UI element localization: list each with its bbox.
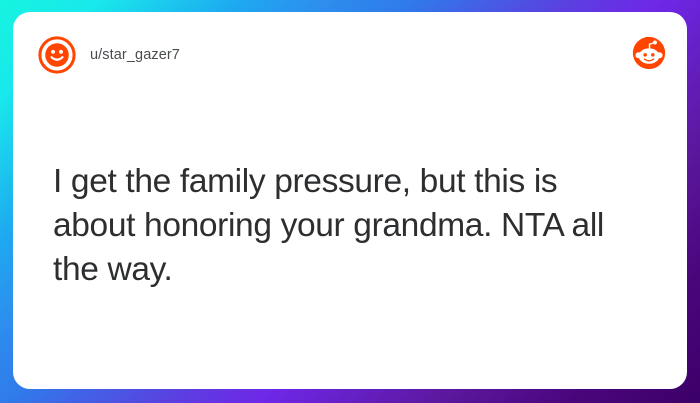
smiley-face-avatar-icon[interactable] xyxy=(38,36,76,74)
reddit-comment-screenshot: u/star_gazer7 xyxy=(0,0,700,403)
post-text-line: I get the family pressure, but this is xyxy=(53,160,655,204)
username-label[interactable]: u/star_gazer7 xyxy=(90,47,180,63)
comment-header: u/star_gazer7 xyxy=(13,12,687,98)
post-text-line: the way. xyxy=(53,248,655,292)
comment-card: u/star_gazer7 xyxy=(13,12,687,389)
post-text-line: about honoring your grandma. NTA all xyxy=(53,204,655,248)
reddit-snoo-logo-icon xyxy=(632,36,666,70)
post-body-text: I get the family pressure, but this is a… xyxy=(53,160,655,292)
